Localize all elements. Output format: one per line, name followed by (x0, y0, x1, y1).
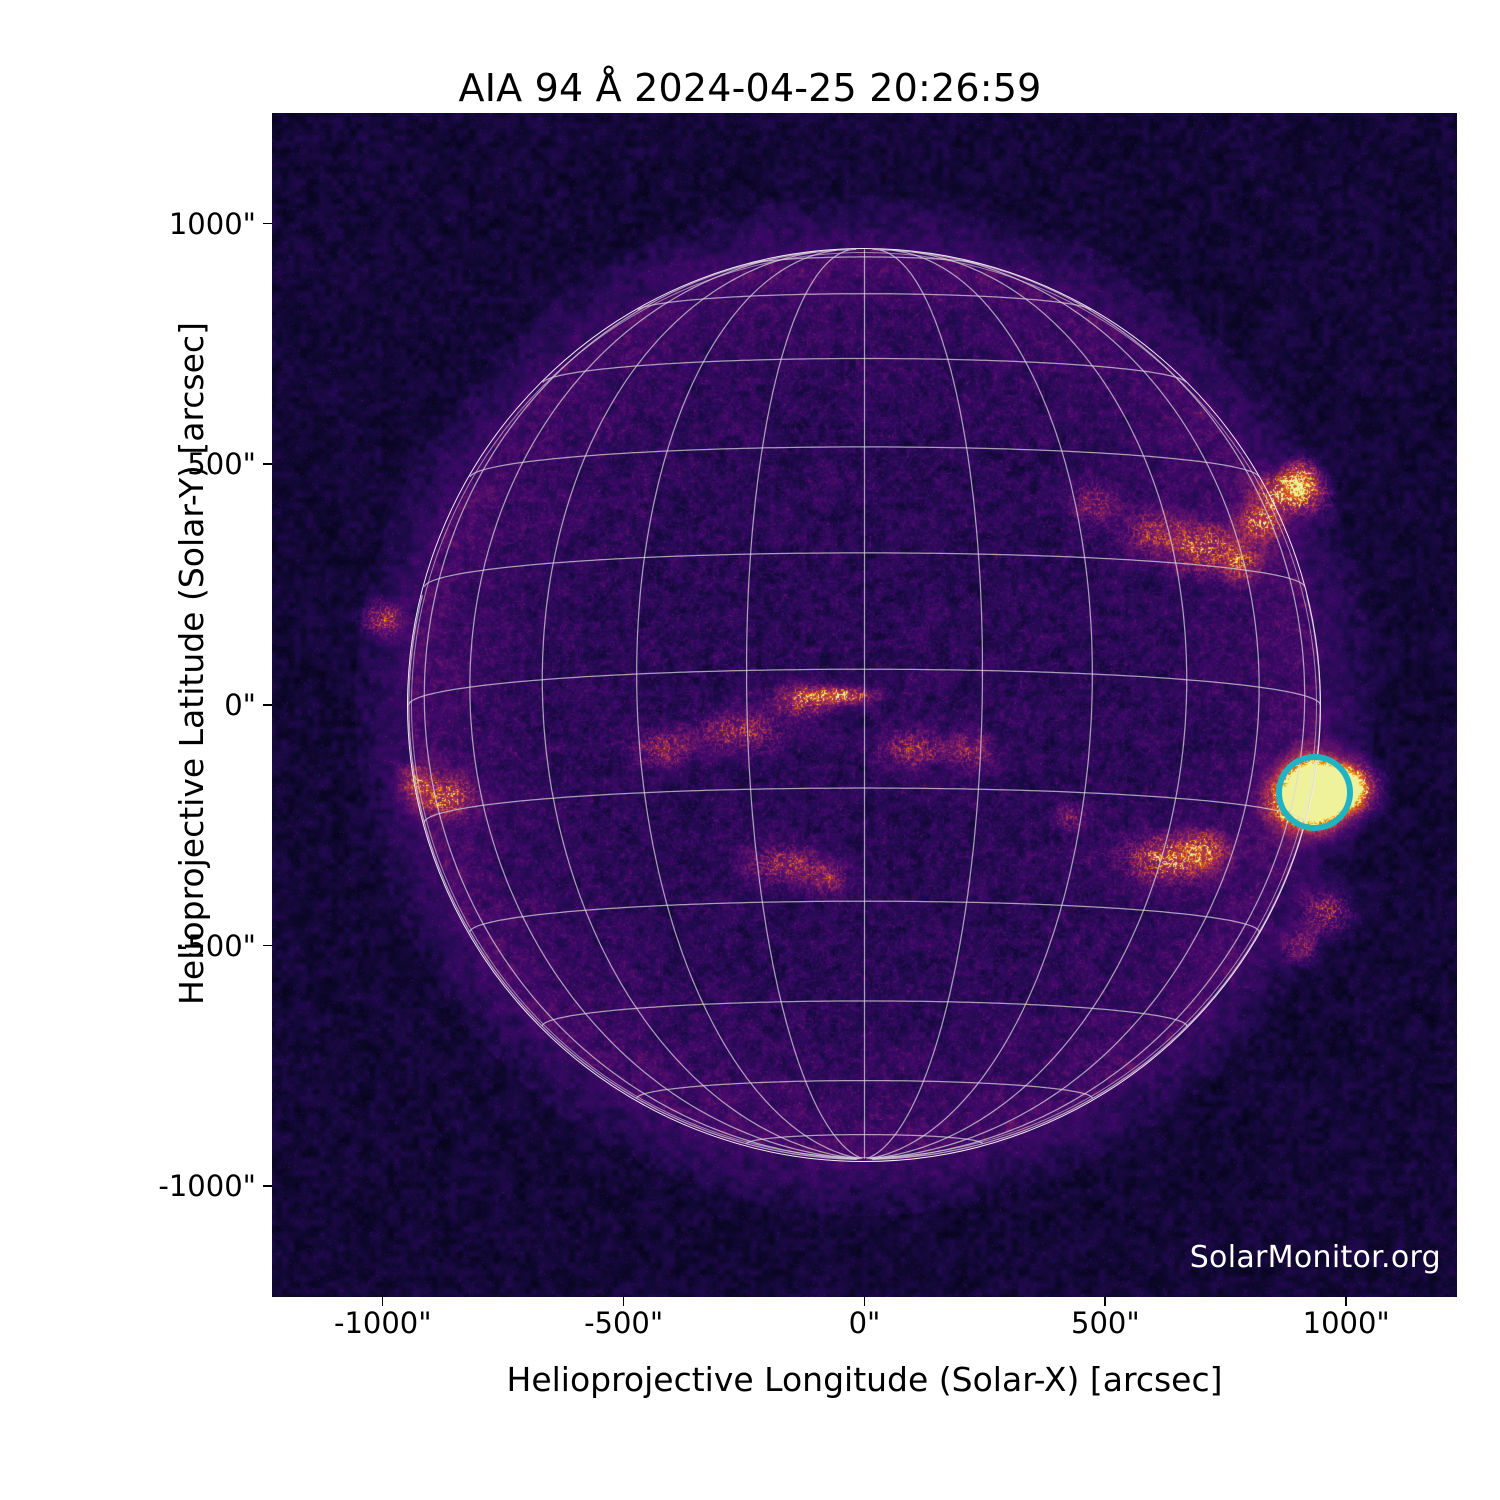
x-tick-label: 0" (849, 1306, 881, 1340)
x-tick-mark (1345, 1297, 1347, 1306)
grid-line (747, 249, 863, 1158)
grid-line (870, 250, 1187, 1159)
grid-line (542, 250, 859, 1159)
grid-line (470, 252, 858, 1159)
y-axis-label: Helioprojective Latitude (Solar-Y) [arcs… (172, 322, 211, 1005)
grid-line (637, 250, 861, 1159)
y-tick-mark (263, 945, 272, 947)
x-tick-mark (1104, 1297, 1106, 1306)
grid-line (873, 595, 1321, 1159)
grid-line (409, 595, 857, 1159)
watermark-label: SolarMonitor.org (1190, 1240, 1441, 1275)
grid-line (867, 249, 983, 1158)
y-tick-label: -1000" (158, 1169, 256, 1203)
y-tick-mark (263, 1185, 272, 1187)
active-region-marker[interactable] (1276, 754, 1353, 831)
solar-image-figure: AIA 94 Å 2024-04-25 20:26:59 SolarMonito… (0, 0, 1500, 1500)
grid-line (872, 260, 1304, 1159)
grid-line (871, 252, 1259, 1159)
y-tick-label: 0" (224, 688, 256, 722)
solar-image-canvas[interactable]: SolarMonitor.org (272, 113, 1457, 1297)
solar-disk-overlay (272, 113, 1457, 1297)
x-tick-mark (864, 1297, 866, 1306)
x-tick-label: 1000" (1303, 1306, 1390, 1340)
y-tick-mark (263, 223, 272, 225)
x-tick-mark (623, 1297, 625, 1306)
y-tick-mark (263, 463, 272, 465)
y-tick-label: 1000" (169, 207, 256, 241)
x-tick-label: -500" (584, 1306, 663, 1340)
x-axis-label: Helioprojective Longitude (Solar-X) [arc… (272, 1360, 1457, 1399)
x-tick-label: 500" (1071, 1306, 1140, 1340)
grid-line (424, 260, 857, 1159)
page-title: AIA 94 Å 2024-04-25 20:26:59 (0, 66, 1500, 110)
heliographic-grid (272, 113, 1457, 1297)
x-tick-mark (382, 1297, 384, 1306)
y-tick-mark (263, 704, 272, 706)
x-tick-label: -1000" (334, 1306, 432, 1340)
grid-line (869, 250, 1093, 1159)
